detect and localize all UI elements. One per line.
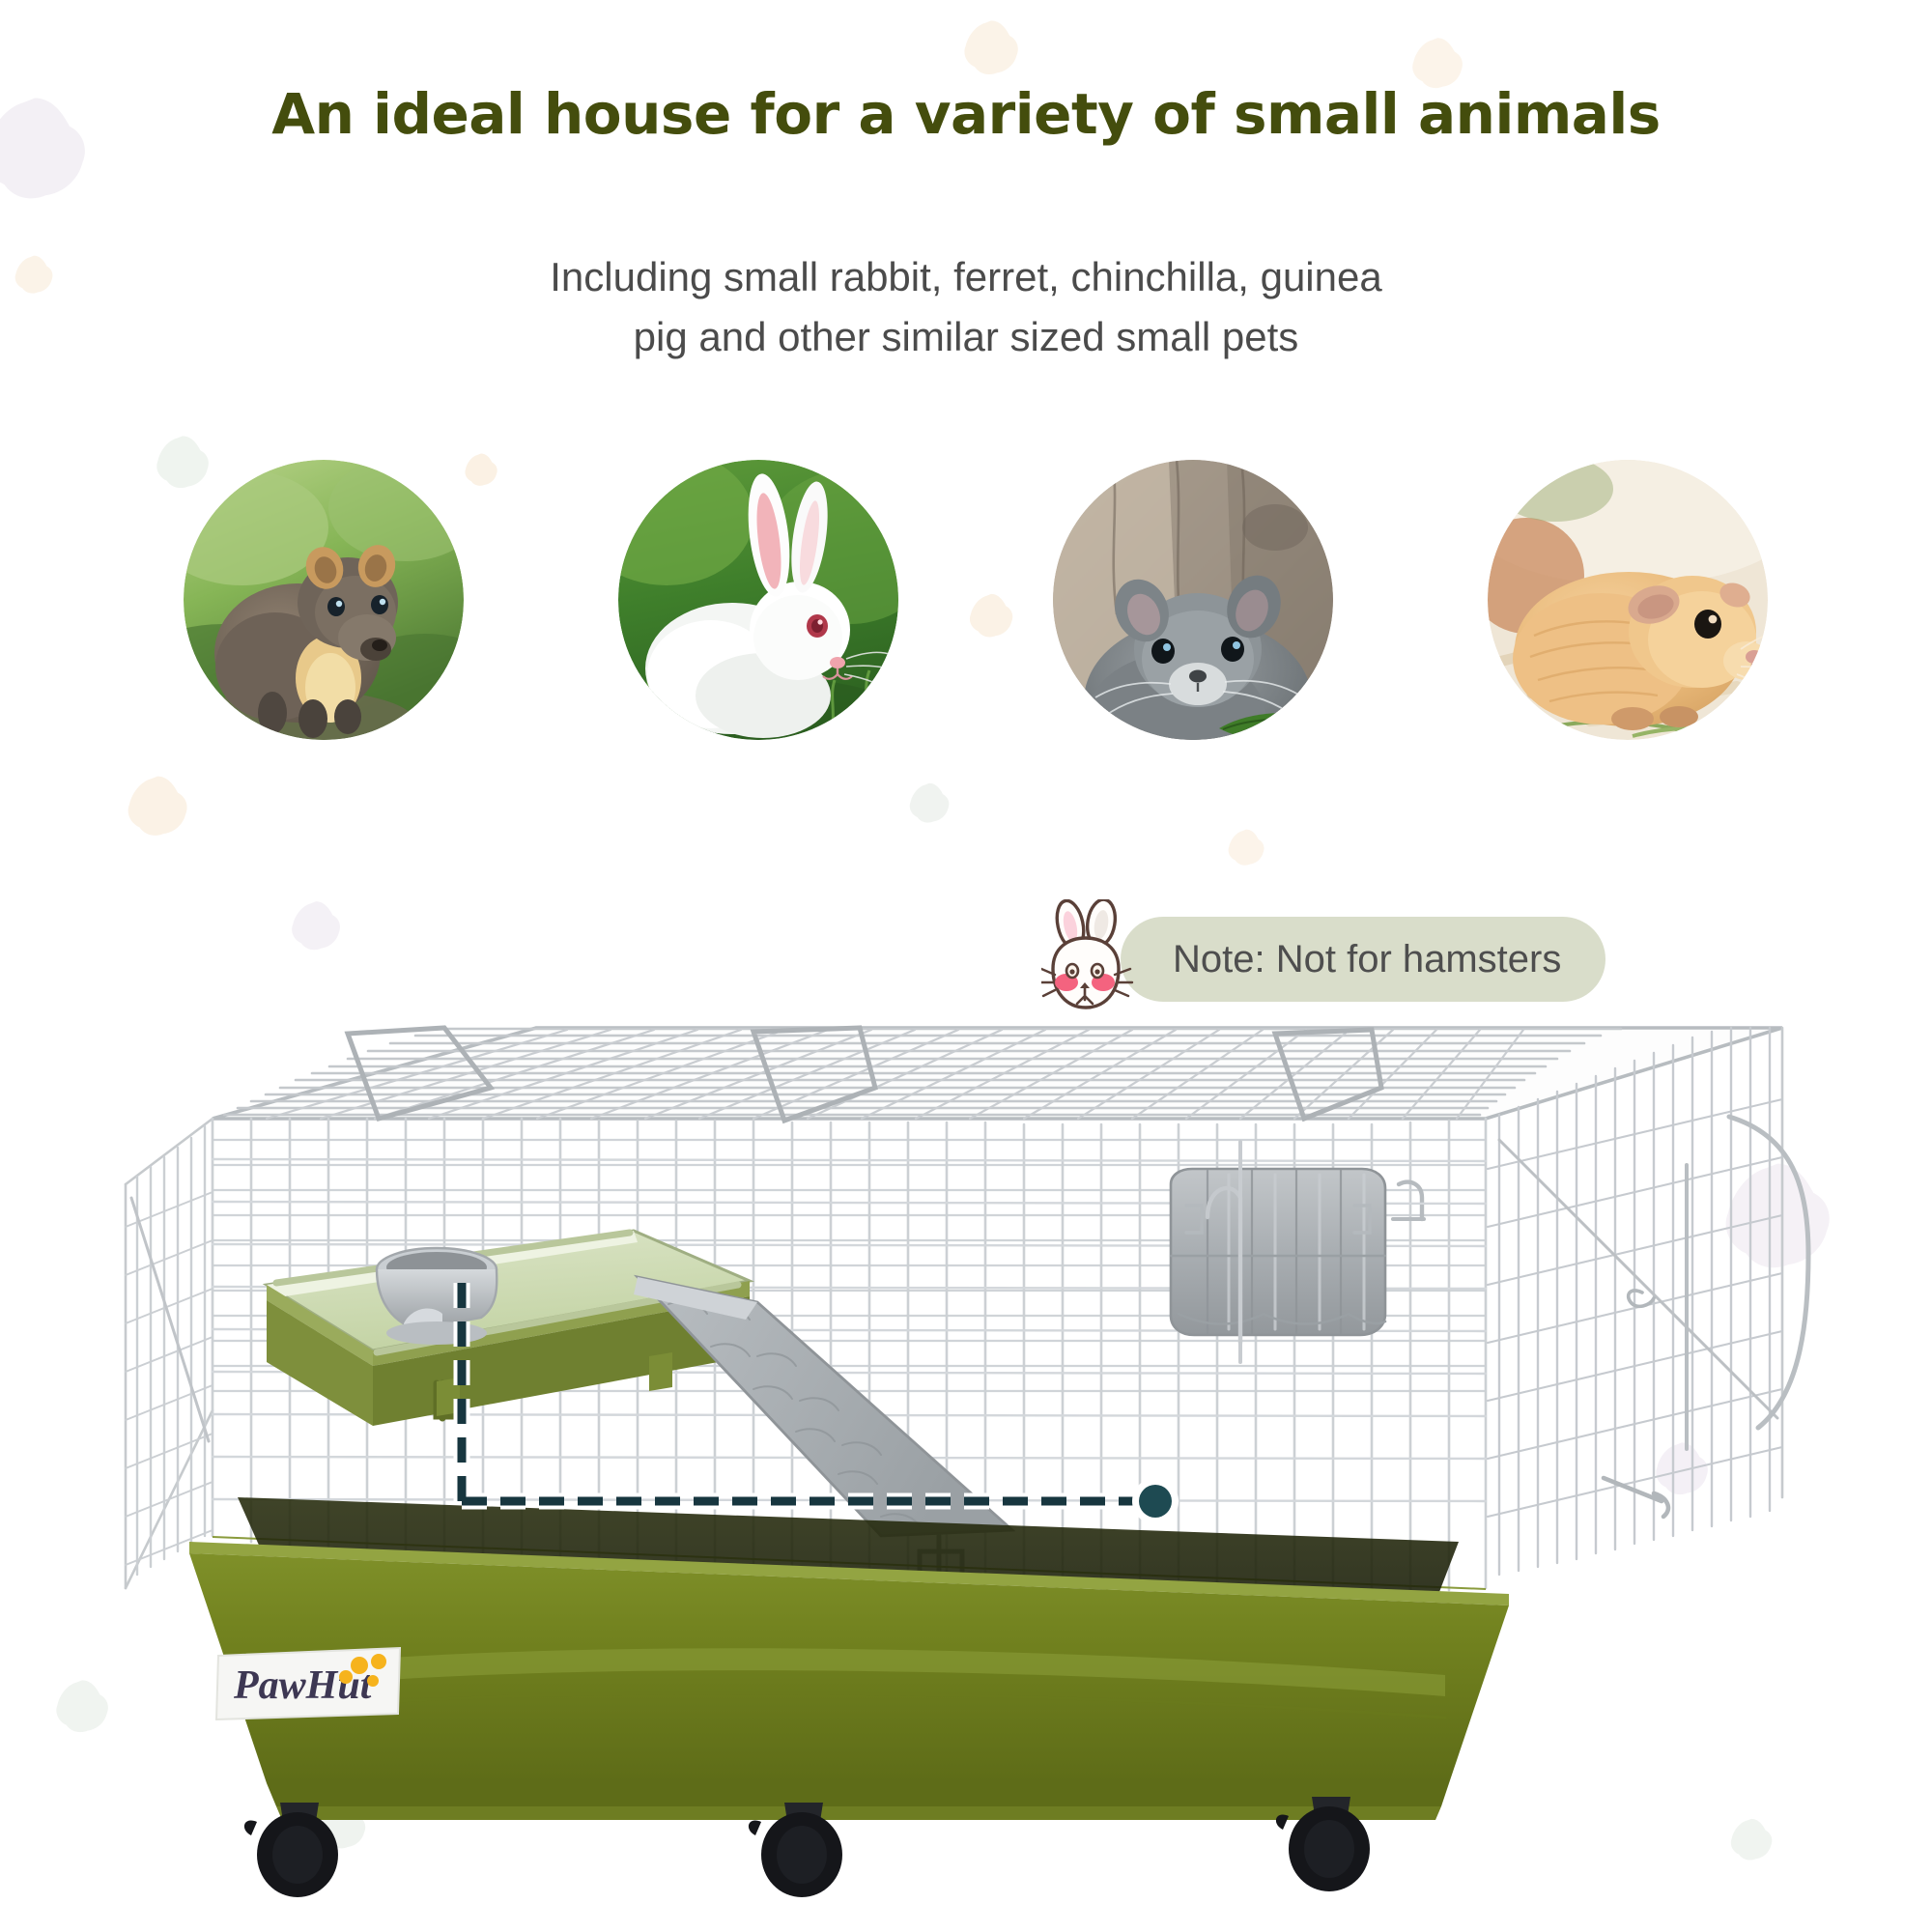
animal-photo-chinchilla [1053,460,1333,740]
animal-photo-guinea-pig [1488,460,1768,740]
page-title: An ideal house for a variety of small an… [0,81,1932,147]
page-subtitle: Including small rabbit, ferret, chinchil… [362,247,1570,367]
product-image-cage: PawHut [97,995,1855,1903]
note-text: Note: Not for hamsters [1173,938,1561,981]
decor-blob-cream-2 [962,17,1020,77]
decor-blob-cream-6 [126,773,189,838]
decor-blob-mint-3 [908,781,951,825]
animal-photo-ferret [184,460,464,740]
subtitle-line-2: pig and other similar sized small pets [362,307,1570,367]
svg-text:PawHut: PawHut [233,1663,373,1708]
animal-photo-row [184,460,1768,740]
decor-blob-cream-1 [14,253,54,296]
animal-photo-rabbit [618,460,898,740]
promo-page: An ideal house for a variety of small an… [0,0,1932,1932]
subtitle-line-1: Including small rabbit, ferret, chinchil… [362,247,1570,307]
bunny-face-icon [1041,899,1146,1019]
note-badge: Note: Not for hamsters [1121,917,1605,1002]
decor-blob-lavender-2 [290,898,342,952]
decor-blob-cream-7 [1227,827,1265,867]
